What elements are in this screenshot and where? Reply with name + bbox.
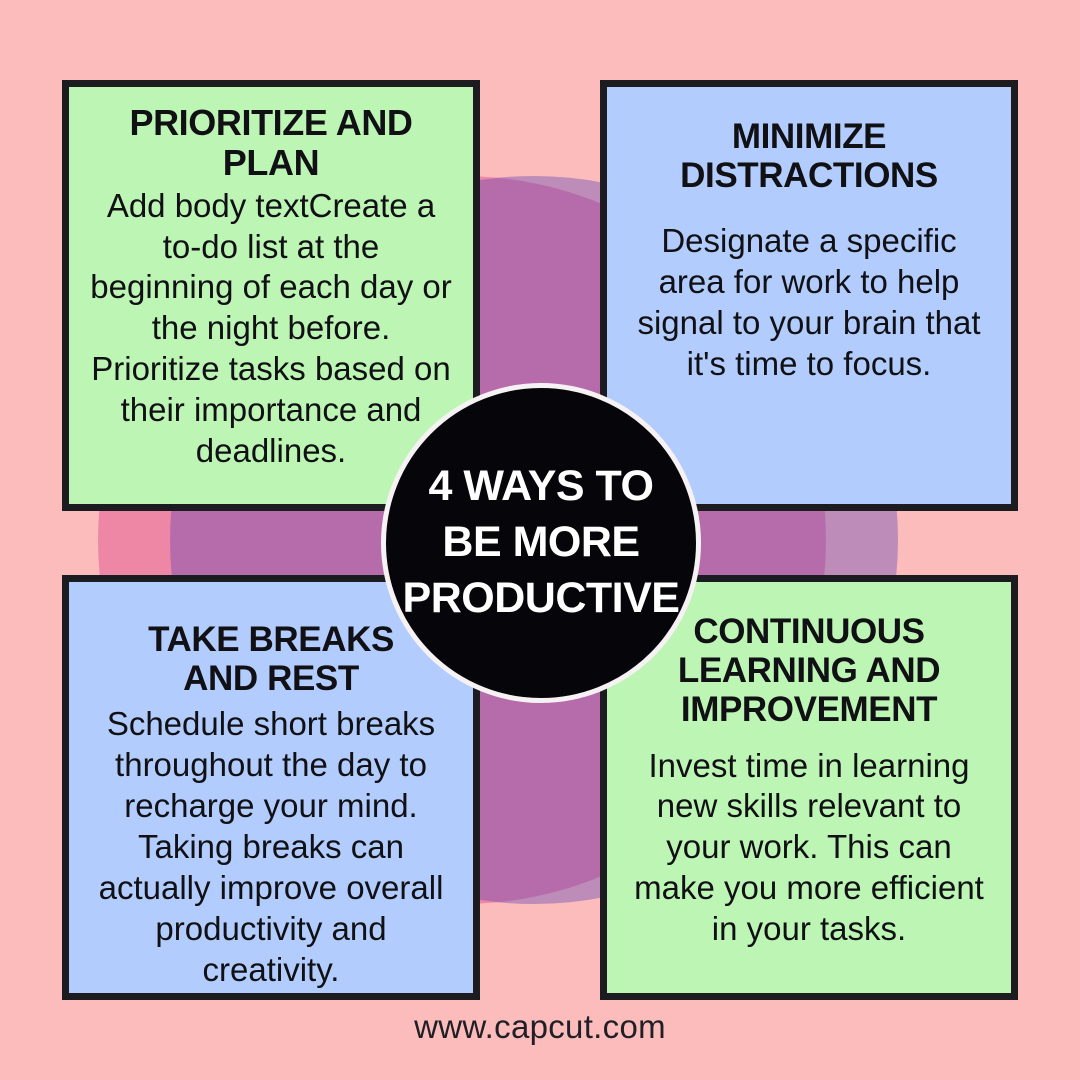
footer-website-url: www.capcut.com (0, 1008, 1080, 1046)
card-body: Designate a specific area for work to he… (627, 221, 991, 385)
center-badge: 4 WAYS TO BE MORE PRODUCTIVE (381, 383, 701, 703)
card-title: CONTINUOUS LEARNING AND IMPROVEMENT (678, 612, 940, 730)
card-title: MINIMIZE DISTRACTIONS (680, 117, 938, 195)
card-body: Invest time in learning new skills relev… (627, 746, 991, 951)
infographic-poster: PRIORITIZE AND PLAN Add body textCreate … (0, 0, 1080, 1080)
card-body: Schedule short breaks throughout the day… (89, 704, 453, 990)
card-title: TAKE BREAKS AND REST (148, 620, 394, 698)
center-badge-label: 4 WAYS TO BE MORE PRODUCTIVE (386, 459, 696, 627)
card-body: Add body textCreate a to-do list at the … (89, 186, 453, 472)
card-title: PRIORITIZE AND PLAN (89, 103, 453, 184)
